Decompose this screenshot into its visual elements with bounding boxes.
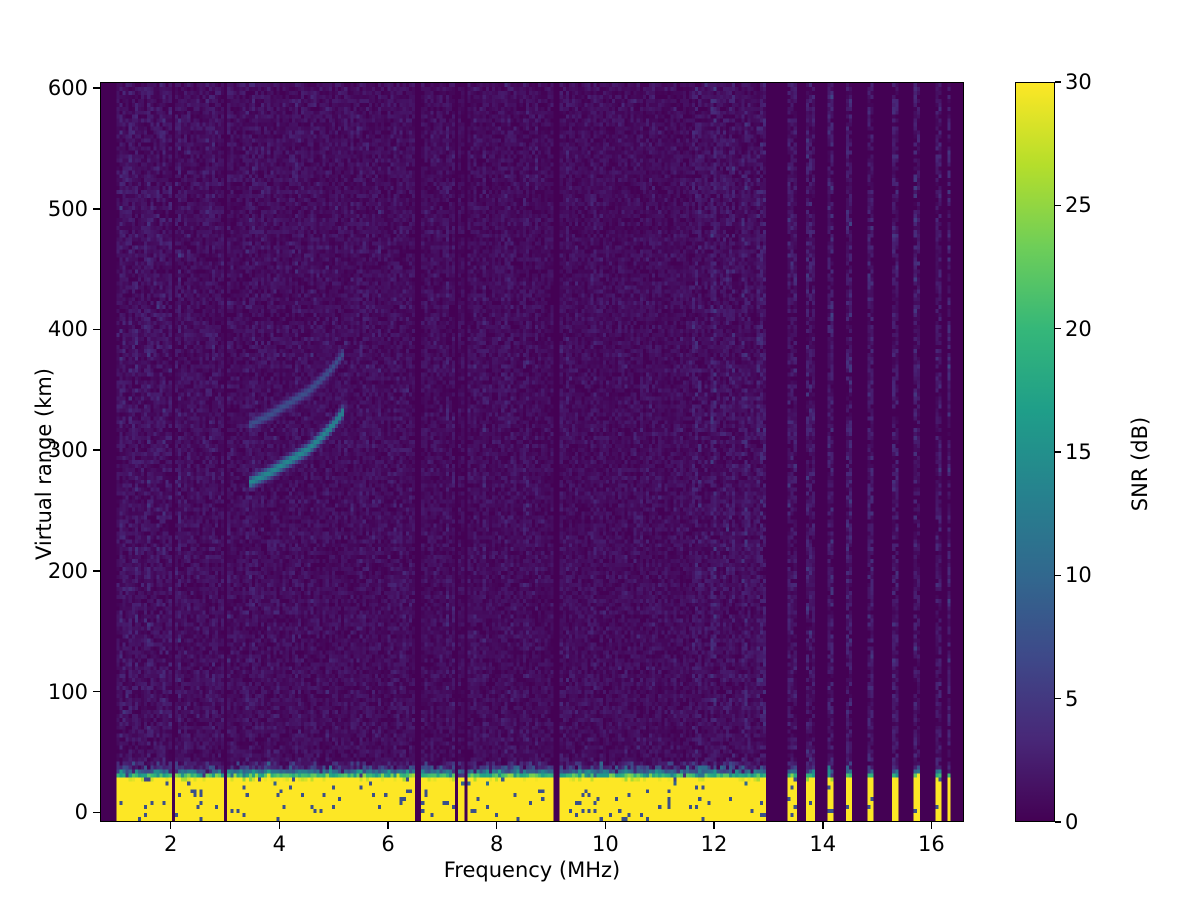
colorbar — [1015, 82, 1055, 822]
y-axis-label: Virtual range (km) — [32, 334, 56, 594]
y-tick-label: 100 — [0, 680, 88, 704]
x-tick-label: 2 — [164, 832, 177, 856]
colorbar-tick-label: 25 — [1065, 193, 1092, 217]
y-tick — [93, 812, 100, 814]
x-tick-label: 8 — [490, 832, 503, 856]
colorbar-tick — [1055, 205, 1061, 206]
plot-area[interactable] — [100, 82, 964, 822]
x-tick — [931, 822, 933, 829]
colorbar-tick-label: 20 — [1065, 317, 1092, 341]
x-tick-label: 4 — [273, 832, 286, 856]
colorbar-tick-label: 10 — [1065, 563, 1092, 587]
y-tick-label: 600 — [0, 76, 88, 100]
colorbar-gradient — [1016, 83, 1054, 821]
x-tick — [387, 822, 389, 829]
y-tick-label: 500 — [0, 197, 88, 221]
x-tick-label: 16 — [918, 832, 945, 856]
x-tick — [170, 822, 172, 829]
colorbar-tick — [1055, 451, 1061, 452]
y-tick-label: 0 — [0, 800, 88, 824]
colorbar-tick — [1055, 698, 1061, 699]
x-tick — [279, 822, 281, 829]
colorbar-tick-label: 15 — [1065, 440, 1092, 464]
colorbar-label: SNR (dB) — [1128, 344, 1152, 584]
x-axis-label: Frequency (MHz) — [100, 858, 964, 882]
x-tick — [605, 822, 607, 829]
y-tick — [93, 449, 100, 451]
x-tick-label: 14 — [809, 832, 836, 856]
x-tick — [822, 822, 824, 829]
colorbar-tick — [1055, 575, 1061, 576]
colorbar-tick-label: 5 — [1065, 687, 1078, 711]
x-tick-label: 6 — [381, 832, 394, 856]
y-tick — [93, 208, 100, 210]
x-tick-label: 12 — [701, 832, 728, 856]
heatmap-canvas — [101, 83, 963, 821]
colorbar-tick — [1055, 81, 1061, 82]
colorbar-tick — [1055, 821, 1061, 822]
y-tick — [93, 691, 100, 693]
colorbar-tick-label: 30 — [1065, 70, 1092, 94]
ionogram-figure: IRF Kiruna Ionosonde KI167 2026-03-04 09… — [0, 0, 1200, 900]
y-tick — [93, 329, 100, 331]
colorbar-tick-label: 0 — [1065, 810, 1078, 834]
x-tick — [496, 822, 498, 829]
x-tick — [713, 822, 715, 829]
x-tick-label: 10 — [592, 832, 619, 856]
ionogram-heatmap — [101, 83, 963, 821]
y-tick — [93, 87, 100, 89]
colorbar-tick — [1055, 328, 1061, 329]
y-tick — [93, 570, 100, 572]
